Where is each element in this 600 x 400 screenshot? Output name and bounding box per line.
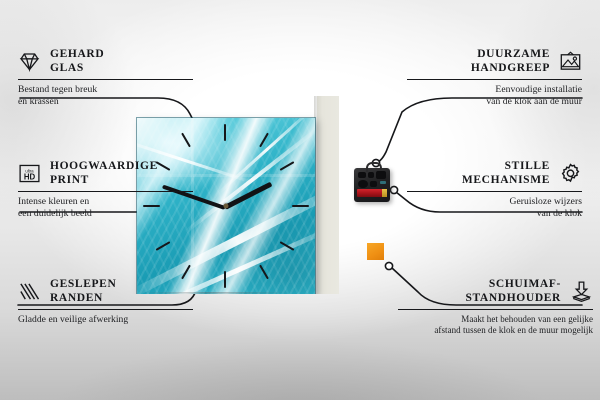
callout-desc-line2: een duidelijk beeld <box>18 208 92 219</box>
callout-title-line2: STANDHOUDER <box>465 292 561 304</box>
callout-schuimafstandhouder: SCHUIMAF- STANDHOUDER Maakt het behouden… <box>398 278 593 336</box>
callout-title-line2: PRINT <box>50 174 89 186</box>
callout-divider <box>407 191 582 192</box>
callout-gehard-glas: GEHARD GLAS Bestand tegen breuk en krass… <box>18 48 193 107</box>
clock-mechanism <box>354 168 390 202</box>
callout-title-line1: HOOGWAARDIGE <box>50 160 158 172</box>
press-down-icon <box>570 280 593 303</box>
clock-center-pin <box>224 204 229 209</box>
diagonal-lines-icon <box>18 280 41 303</box>
callout-duurzame-handgreep: DUURZAME HANDGREEP Eenvoudige installati… <box>407 48 582 107</box>
callout-desc-line2: van de klok <box>537 208 582 219</box>
callout-divider <box>18 309 193 310</box>
callout-divider <box>407 79 582 80</box>
callout-title-line2: MECHANISME <box>462 174 550 186</box>
callout-desc-line1: Geruisloze wijzers <box>509 196 582 207</box>
foam-spacer <box>367 243 384 260</box>
callout-desc-line2: en krassen <box>18 96 59 107</box>
callout-desc-line1: Gladde en veilige afwerking <box>18 314 128 325</box>
callout-title-line1: STILLE <box>505 160 550 172</box>
mechanism-terminal <box>380 181 386 184</box>
callout-geslepen-randen: GESLEPEN RANDEN Gladde en veilige afwerk… <box>18 278 193 326</box>
callout-title-line2: RANDEN <box>50 292 103 304</box>
callout-desc-line2: van de klok aan de muur <box>486 96 582 107</box>
callout-title-line2: HANDGREEP <box>471 62 550 74</box>
callout-stille-mechanisme: STILLE MECHANISME Geruisloze wijzers van… <box>407 160 582 219</box>
callout-title-line1: DUURZAME <box>477 48 550 60</box>
callout-divider <box>18 191 193 192</box>
diamond-icon <box>18 50 41 73</box>
mechanism-battery <box>357 189 387 197</box>
callout-desc-line1: Eenvoudige installatie <box>495 84 582 95</box>
leader-line-duurzame-handgreep <box>378 98 582 162</box>
callout-desc-line1: Bestand tegen breuk <box>18 84 97 95</box>
callout-hoogwaardige-print: ultra HD HOOGWAARDIGE PRINT Intense kleu… <box>18 160 193 219</box>
callout-desc-line2: afstand tussen de klok en de muur mogeli… <box>434 325 593 335</box>
callout-title-line1: GESLEPEN <box>50 278 116 290</box>
callout-divider <box>18 79 193 80</box>
svg-text:HD: HD <box>24 172 36 181</box>
callout-title-line2: GLAS <box>50 62 84 74</box>
callout-title-line1: SCHUIMAF- <box>489 278 561 290</box>
callout-desc-line1: Maakt het behouden van een gelijke <box>461 314 593 324</box>
leader-dot-stille-mechanisme <box>390 186 397 193</box>
gear-icon <box>559 162 582 185</box>
product-infographic: GEHARD GLAS Bestand tegen breuk en krass… <box>0 0 600 400</box>
ultra-hd-icon: ultra HD <box>18 162 41 185</box>
callout-divider <box>398 309 593 310</box>
wall-panel <box>317 96 339 294</box>
callout-desc-line1: Intense kleuren en <box>18 196 89 207</box>
callout-title-line1: GEHARD <box>50 48 104 60</box>
picture-frame-icon <box>559 50 582 73</box>
leader-dot-schuimafstandhouder <box>385 262 392 269</box>
